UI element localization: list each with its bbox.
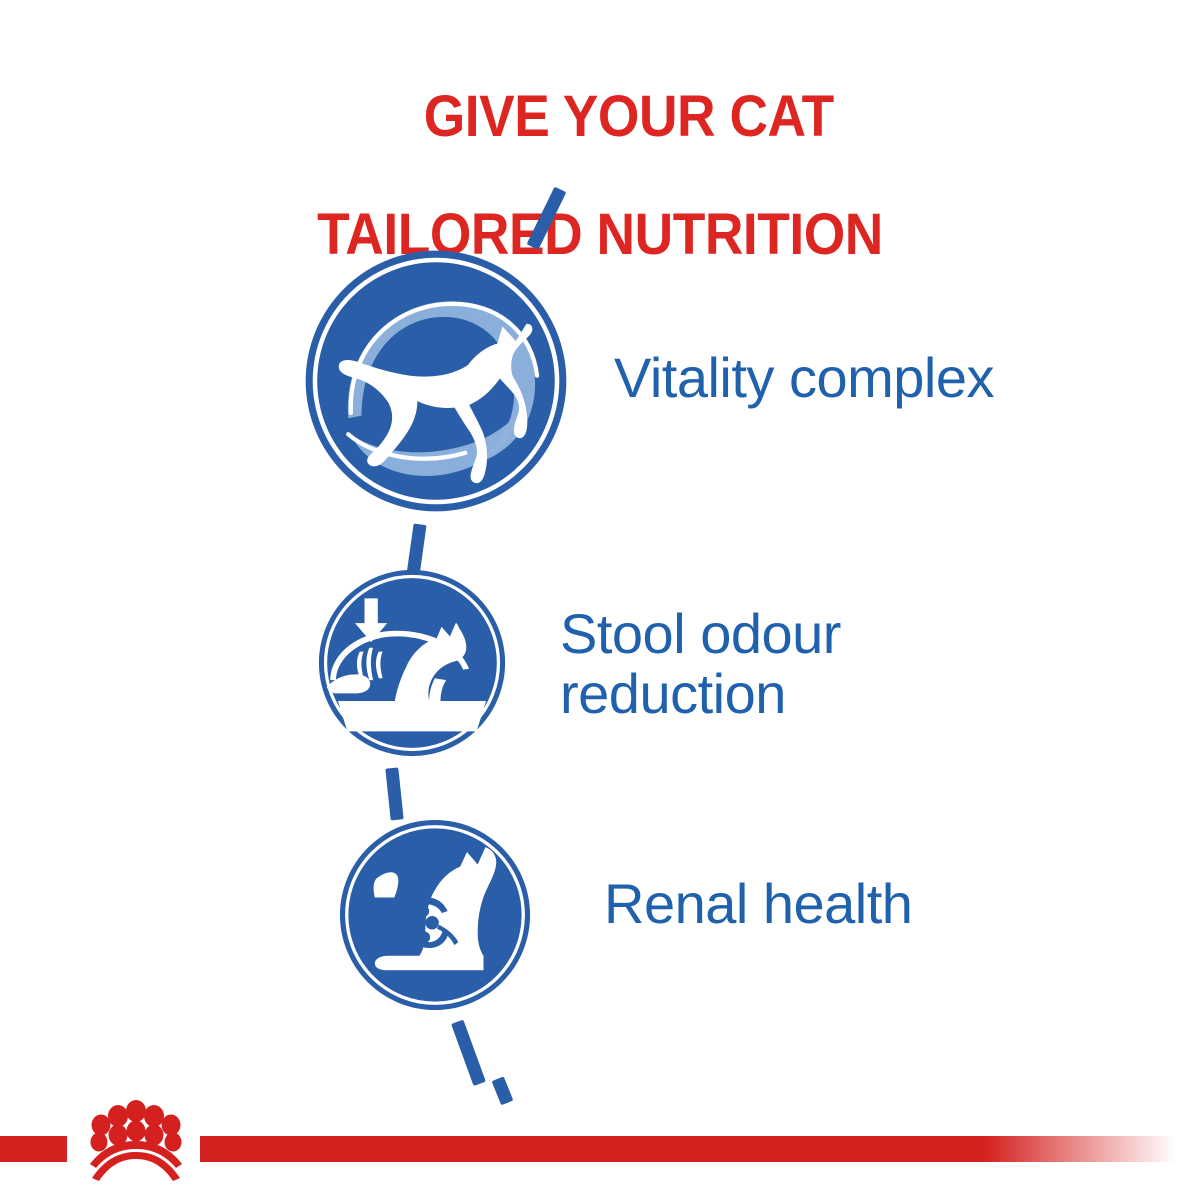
royal-canin-crown-logo (72, 1098, 200, 1194)
running-cat-in-circle-icon (303, 248, 569, 514)
feature-label-vitality-complex: Vitality complex (614, 348, 994, 408)
feature-label-stool-odour-reduction: Stool odour reduction (560, 604, 841, 725)
feature-label-renal-health: Renal health (604, 874, 912, 934)
cat-kidney-icon (338, 818, 532, 1012)
page-title-line-1: GIVE YOUR CAT (424, 84, 834, 149)
page-title-line-2: TAILORED NUTRITION (48, 205, 1152, 264)
promo-panel: GIVE YOUR CAT TAILORED NUTRITION (0, 0, 1200, 1200)
page-title: GIVE YOUR CAT TAILORED NUTRITION (48, 28, 1152, 383)
cat-litter-tray-odour-arrow-icon (317, 568, 507, 758)
